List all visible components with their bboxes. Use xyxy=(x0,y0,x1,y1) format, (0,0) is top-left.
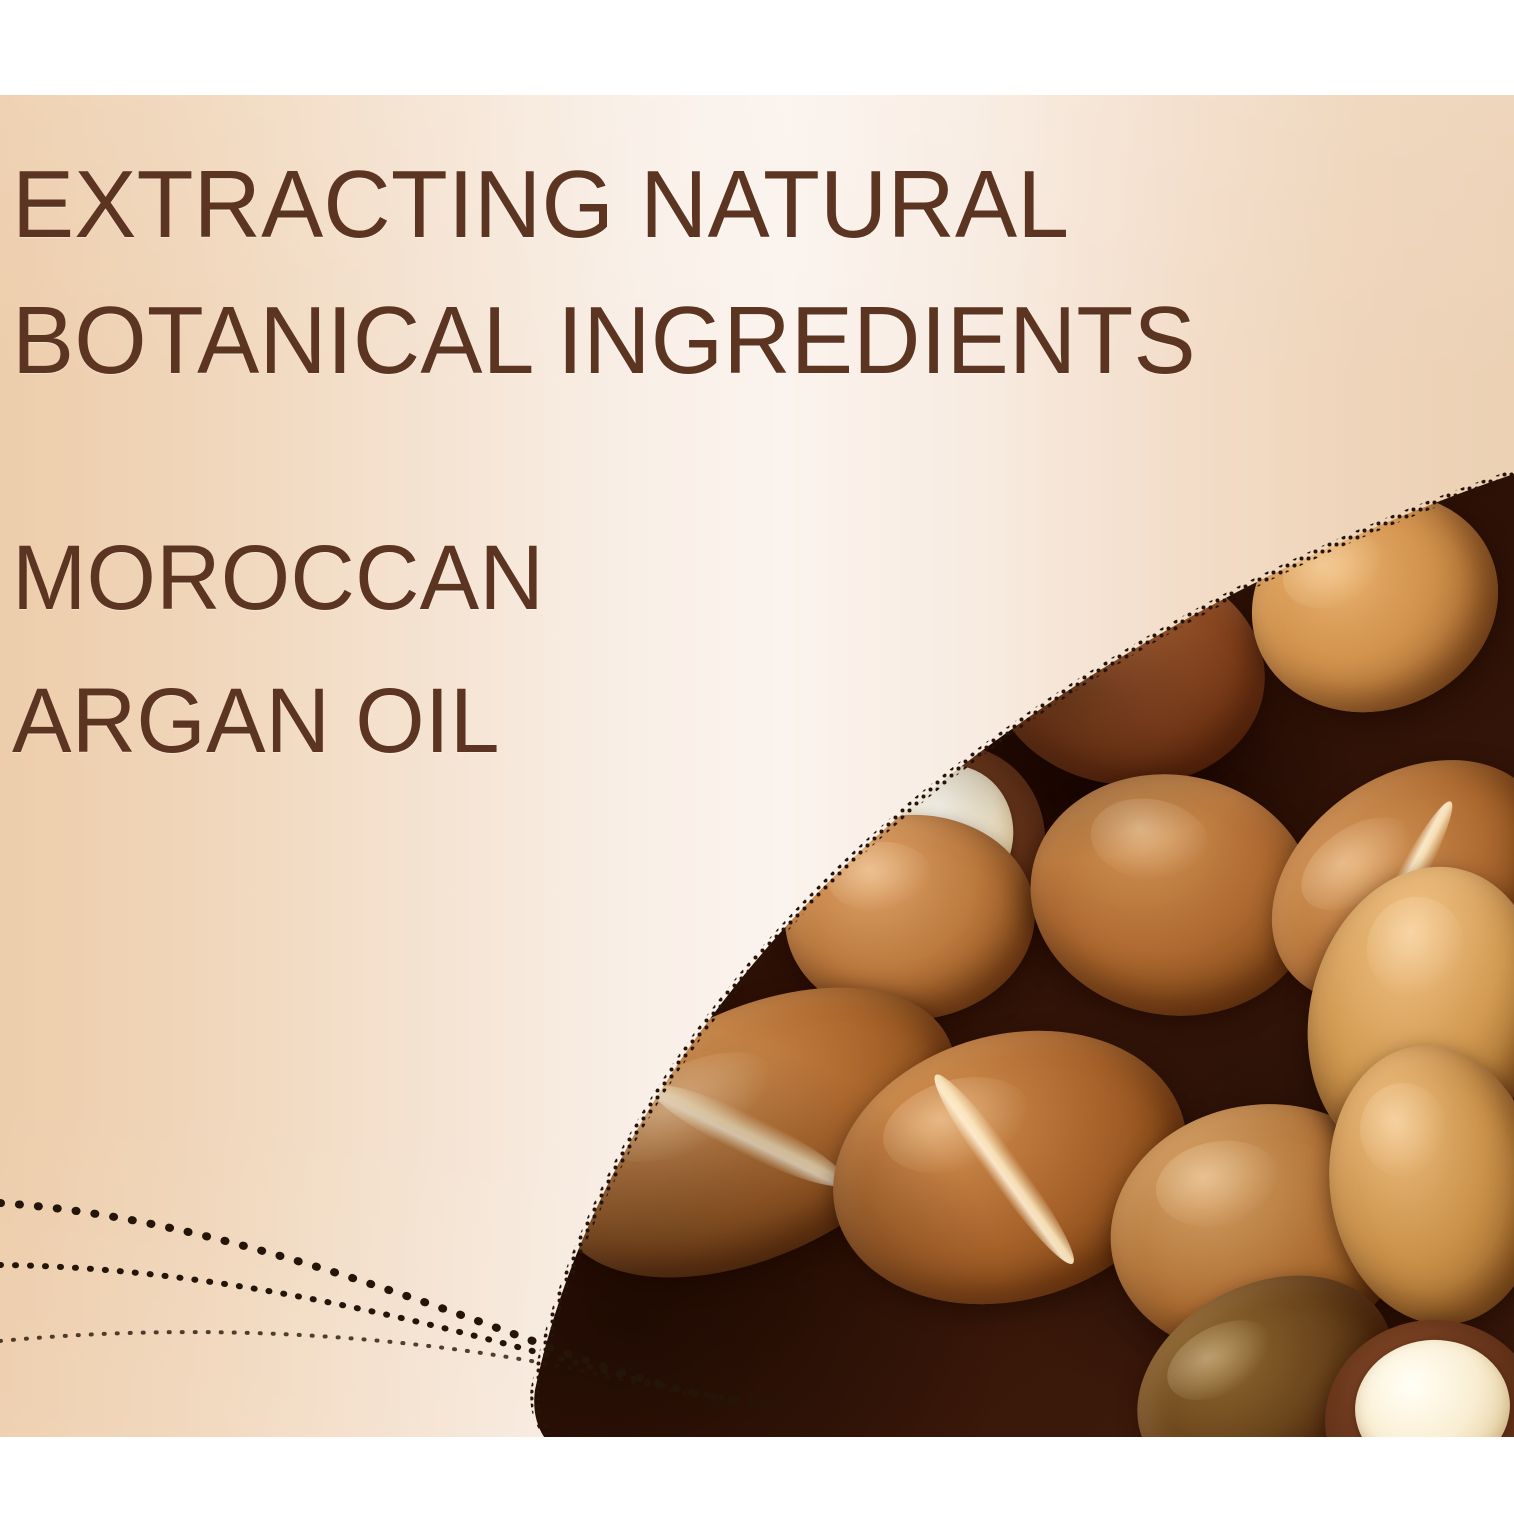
subhead-line-1: MOROCCAN xyxy=(12,507,544,650)
headline-line-2: BOTANICAL INGREDIENTS xyxy=(12,273,1196,409)
subhead: MOROCCAN ARGAN OIL xyxy=(12,507,544,792)
nut-shell xyxy=(748,458,1027,682)
headline: EXTRACTING NATURAL BOTANICAL INGREDIENTS xyxy=(12,137,1196,410)
argan-nut-photo xyxy=(430,345,1514,1437)
subhead-line-2: ARGAN OIL xyxy=(12,650,544,793)
letterbox-band-top xyxy=(0,0,1514,95)
banner-canvas: EXTRACTING NATURAL BOTANICAL INGREDIENTS… xyxy=(0,0,1514,1514)
banner-background: EXTRACTING NATURAL BOTANICAL INGREDIENTS… xyxy=(0,95,1514,1437)
letterbox-band-bottom xyxy=(0,1437,1514,1514)
nut-shell xyxy=(512,480,779,710)
headline-line-1: EXTRACTING NATURAL xyxy=(12,137,1196,273)
